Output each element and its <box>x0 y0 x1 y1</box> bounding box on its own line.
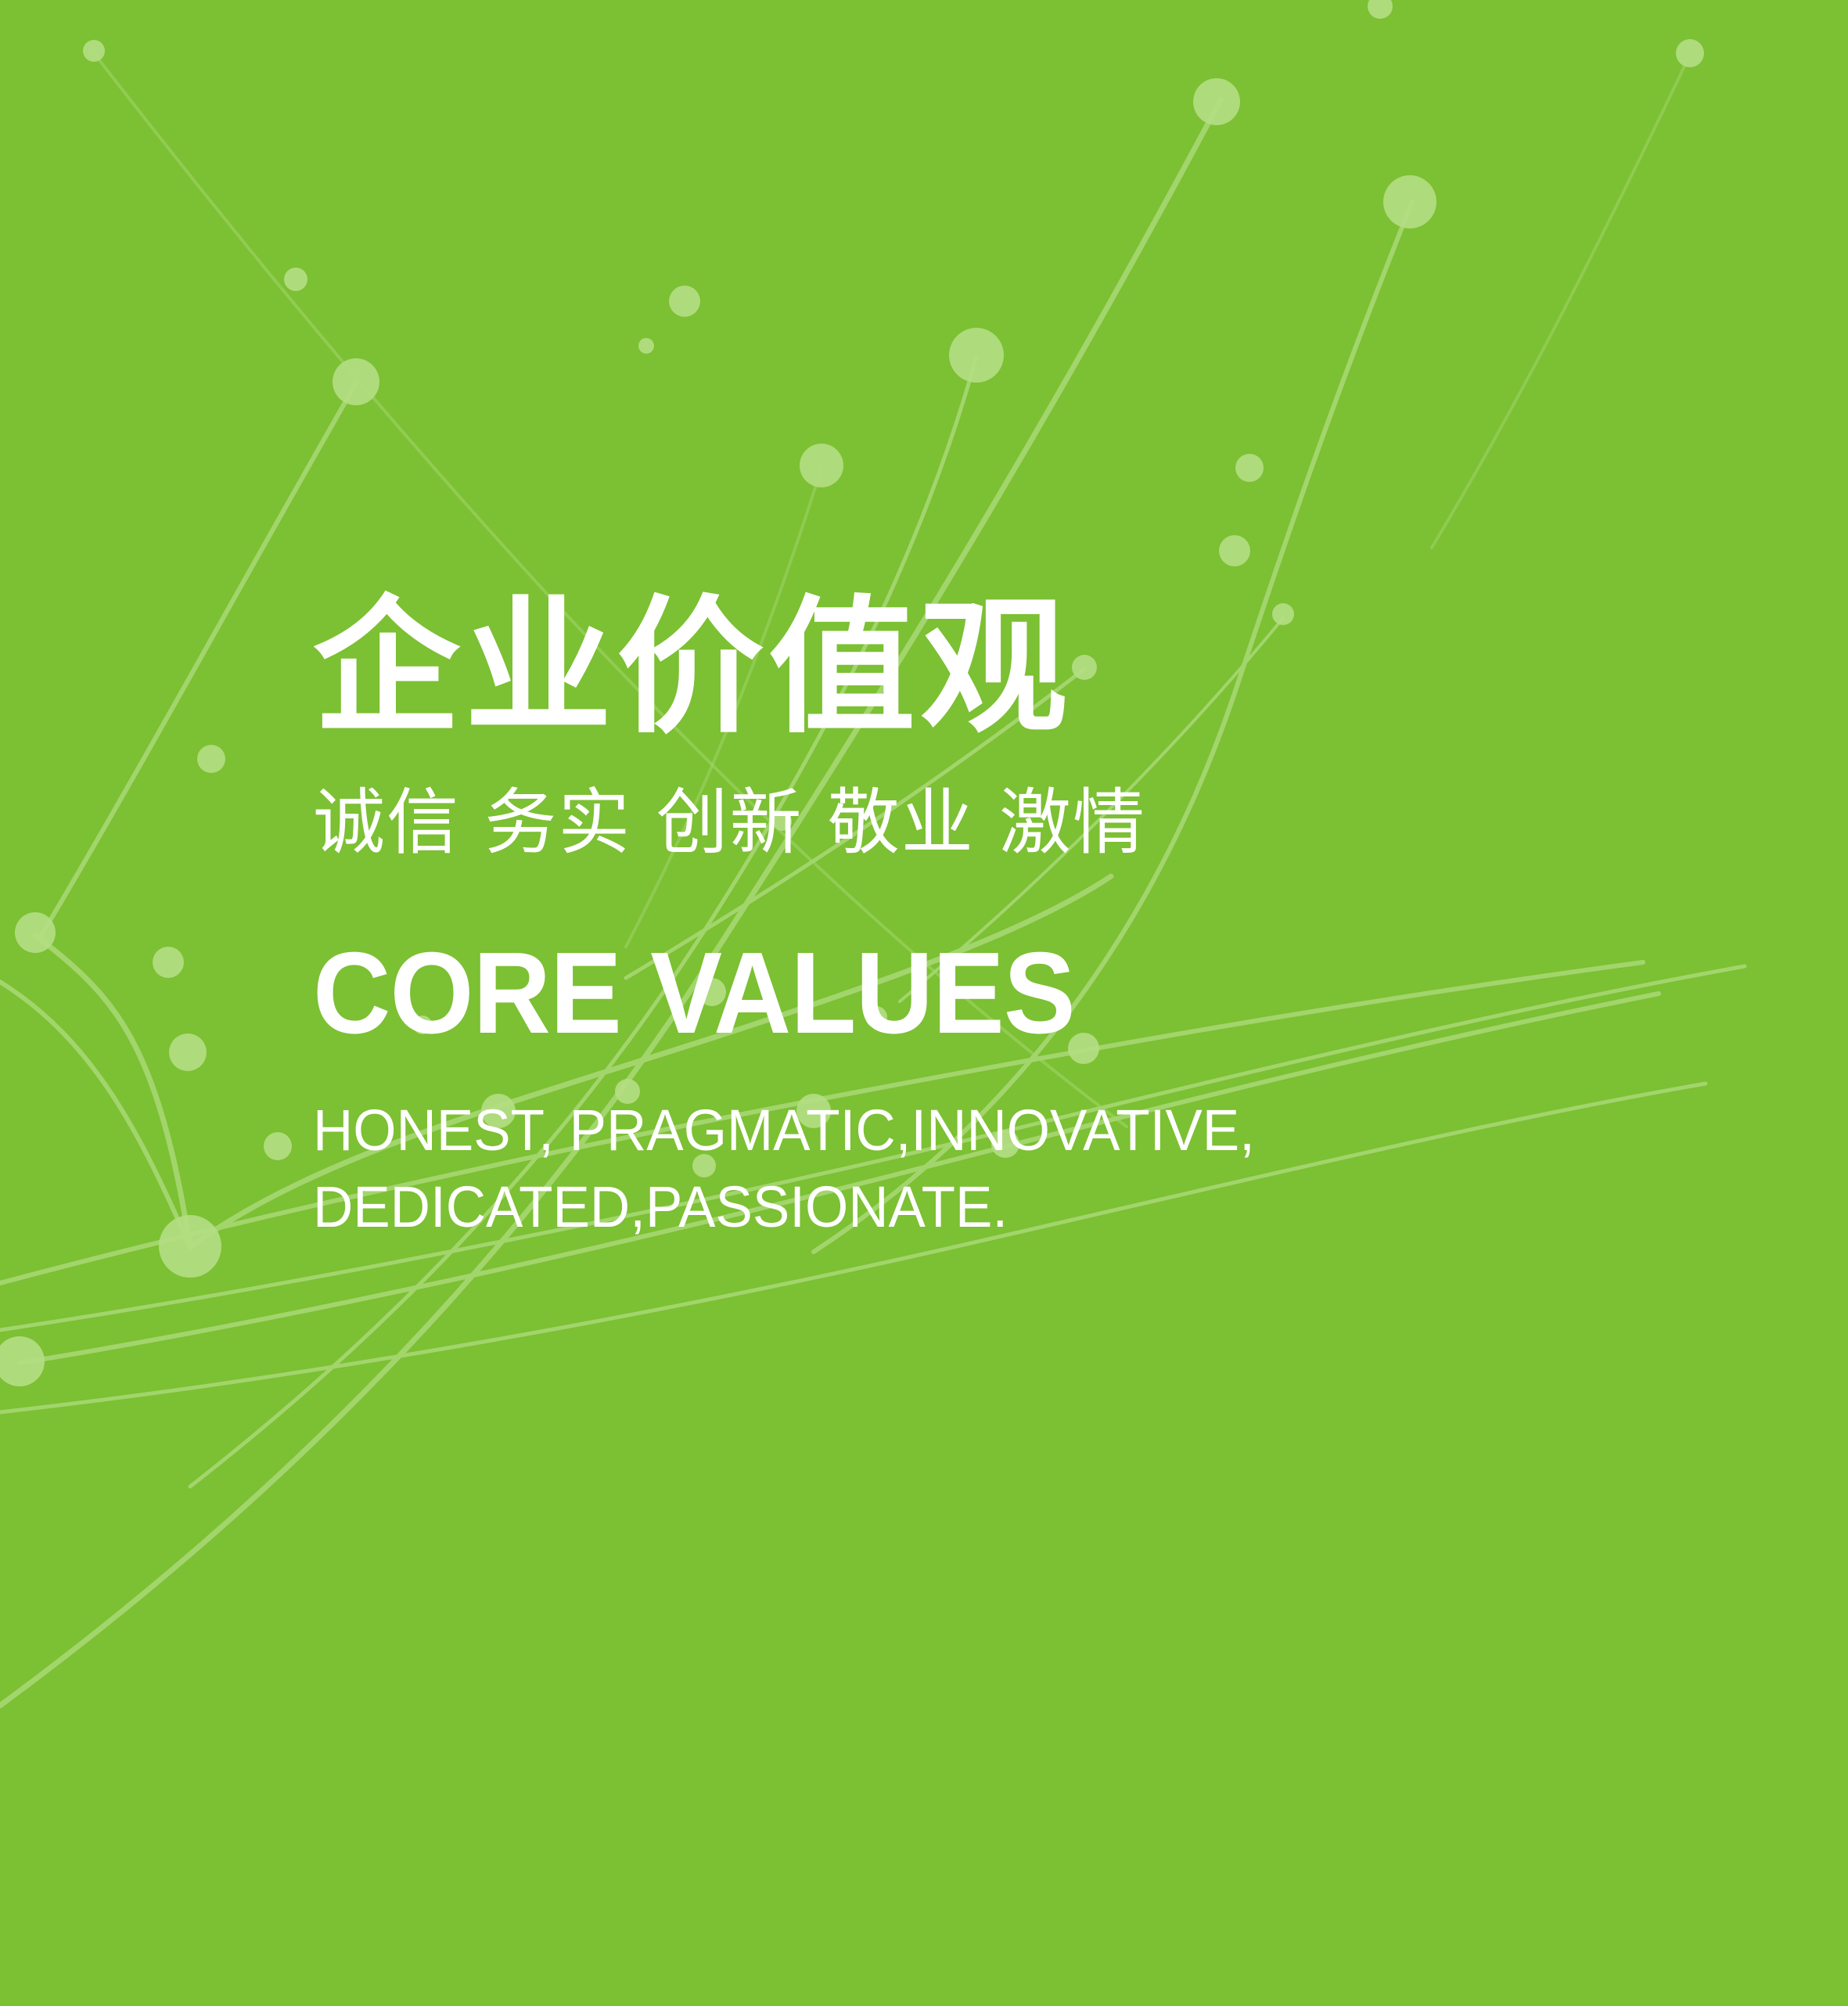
english-body: HONEST, PRAGMATIC,INNOVATIVE, DEDICATED,… <box>313 1092 1710 1245</box>
english-body-line-2: DEDICATED,PASSIONATE. <box>313 1169 1710 1246</box>
headline-block: 企业价值观 诚信 务实 创新 敬业 激情 CORE VALUES HONEST,… <box>313 595 1768 1245</box>
poster-canvas: 企业价值观 诚信 务实 创新 敬业 激情 CORE VALUES HONEST,… <box>0 0 1848 2006</box>
chinese-title: 企业价值观 <box>313 595 1768 742</box>
english-body-line-1: HONEST, PRAGMATIC,INNOVATIVE, <box>313 1092 1710 1169</box>
english-title: CORE VALUES <box>313 936 1666 1052</box>
chinese-subtitle: 诚信 务实 创新 敬业 激情 <box>313 787 1768 859</box>
